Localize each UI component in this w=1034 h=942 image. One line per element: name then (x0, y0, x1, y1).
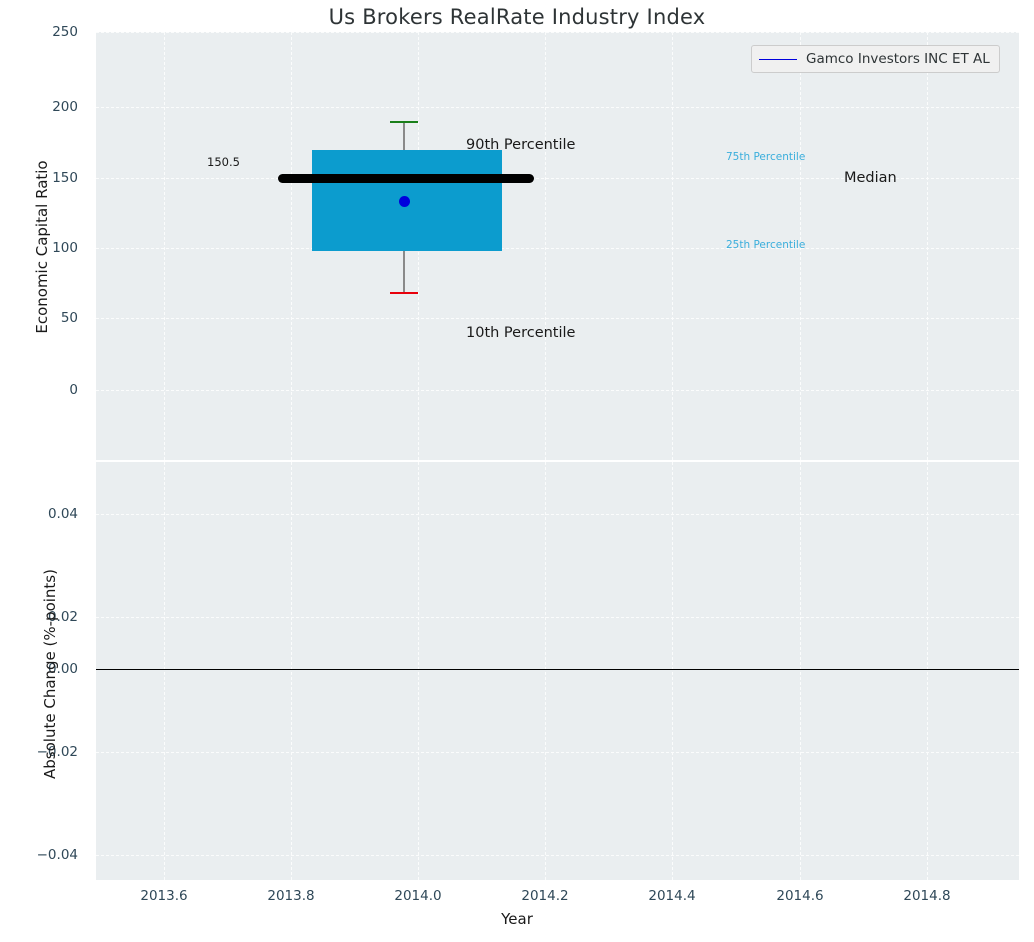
legend-line-swatch (759, 59, 797, 60)
gridline-top-50 (96, 318, 1019, 319)
gridline-x-2014-0-b (418, 462, 419, 880)
gridline-x-2013-6 (164, 32, 165, 460)
x-axis-label: Year (0, 910, 1034, 928)
gridline-x-2014-2-b (545, 462, 546, 880)
ytick-top-250: 250 (0, 24, 88, 40)
top-panel-plot-area: 90th Percentile 10th Percentile Median 7… (96, 32, 1019, 460)
gridline-x-2013-8 (291, 32, 292, 460)
median-value-label: 150.5 (207, 155, 240, 169)
y-axis-label-bottom: Absolute Change (%-points) (41, 494, 59, 854)
gridline-x-2014-2 (545, 32, 546, 460)
gridline-bottom-004 (96, 514, 1019, 515)
gridline-bottom-002 (96, 617, 1019, 618)
gridline-top-100 (96, 248, 1019, 249)
xtick-2014-2: 2014.2 (521, 888, 568, 904)
median-line (278, 174, 534, 183)
chart-legend[interactable]: Gamco Investors INC ET AL (751, 45, 1000, 73)
annotation-p10: 10th Percentile (466, 325, 575, 341)
xtick-2014-0: 2014.0 (394, 888, 441, 904)
xtick-2014-8: 2014.8 (903, 888, 950, 904)
annotation-p75: 75th Percentile (726, 151, 805, 163)
gridline-x-2014-8 (927, 32, 928, 460)
p90-cap-marker (390, 121, 418, 123)
gridline-top-200 (96, 107, 1019, 108)
y-axis-label-top: Economic Capital Ratio (33, 97, 51, 397)
company-value-marker (399, 196, 410, 207)
gridline-x-2014-8-b (927, 462, 928, 880)
annotation-median: Median (844, 170, 897, 186)
gridline-top-250 (96, 32, 1019, 33)
legend-entry-label: Gamco Investors INC ET AL (806, 51, 990, 67)
gridline-x-2013-6-b (164, 462, 165, 880)
zero-reference-line (96, 669, 1019, 670)
annotation-p90: 90th Percentile (466, 137, 575, 153)
bottom-panel-plot-area (96, 462, 1019, 880)
xtick-2013-6: 2013.6 (140, 888, 187, 904)
gridline-x-2014-6-b (800, 462, 801, 880)
xtick-2014-6: 2014.6 (776, 888, 823, 904)
annotation-p25: 25th Percentile (726, 239, 805, 251)
p10-cap-marker (390, 292, 418, 294)
gridline-bottom-neg004 (96, 855, 1019, 856)
xtick-2014-4: 2014.4 (648, 888, 695, 904)
gridline-x-2014-4 (672, 32, 673, 460)
gridline-x-2013-8-b (291, 462, 292, 880)
gridline-top-0 (96, 390, 1019, 391)
xtick-2013-8: 2013.8 (267, 888, 314, 904)
gridline-x-2014-4-b (672, 462, 673, 880)
chart-figure: Us Brokers RealRate Industry Index 90th … (0, 0, 1034, 942)
page-title: Us Brokers RealRate Industry Index (0, 5, 1034, 29)
gridline-bottom-neg002 (96, 752, 1019, 753)
